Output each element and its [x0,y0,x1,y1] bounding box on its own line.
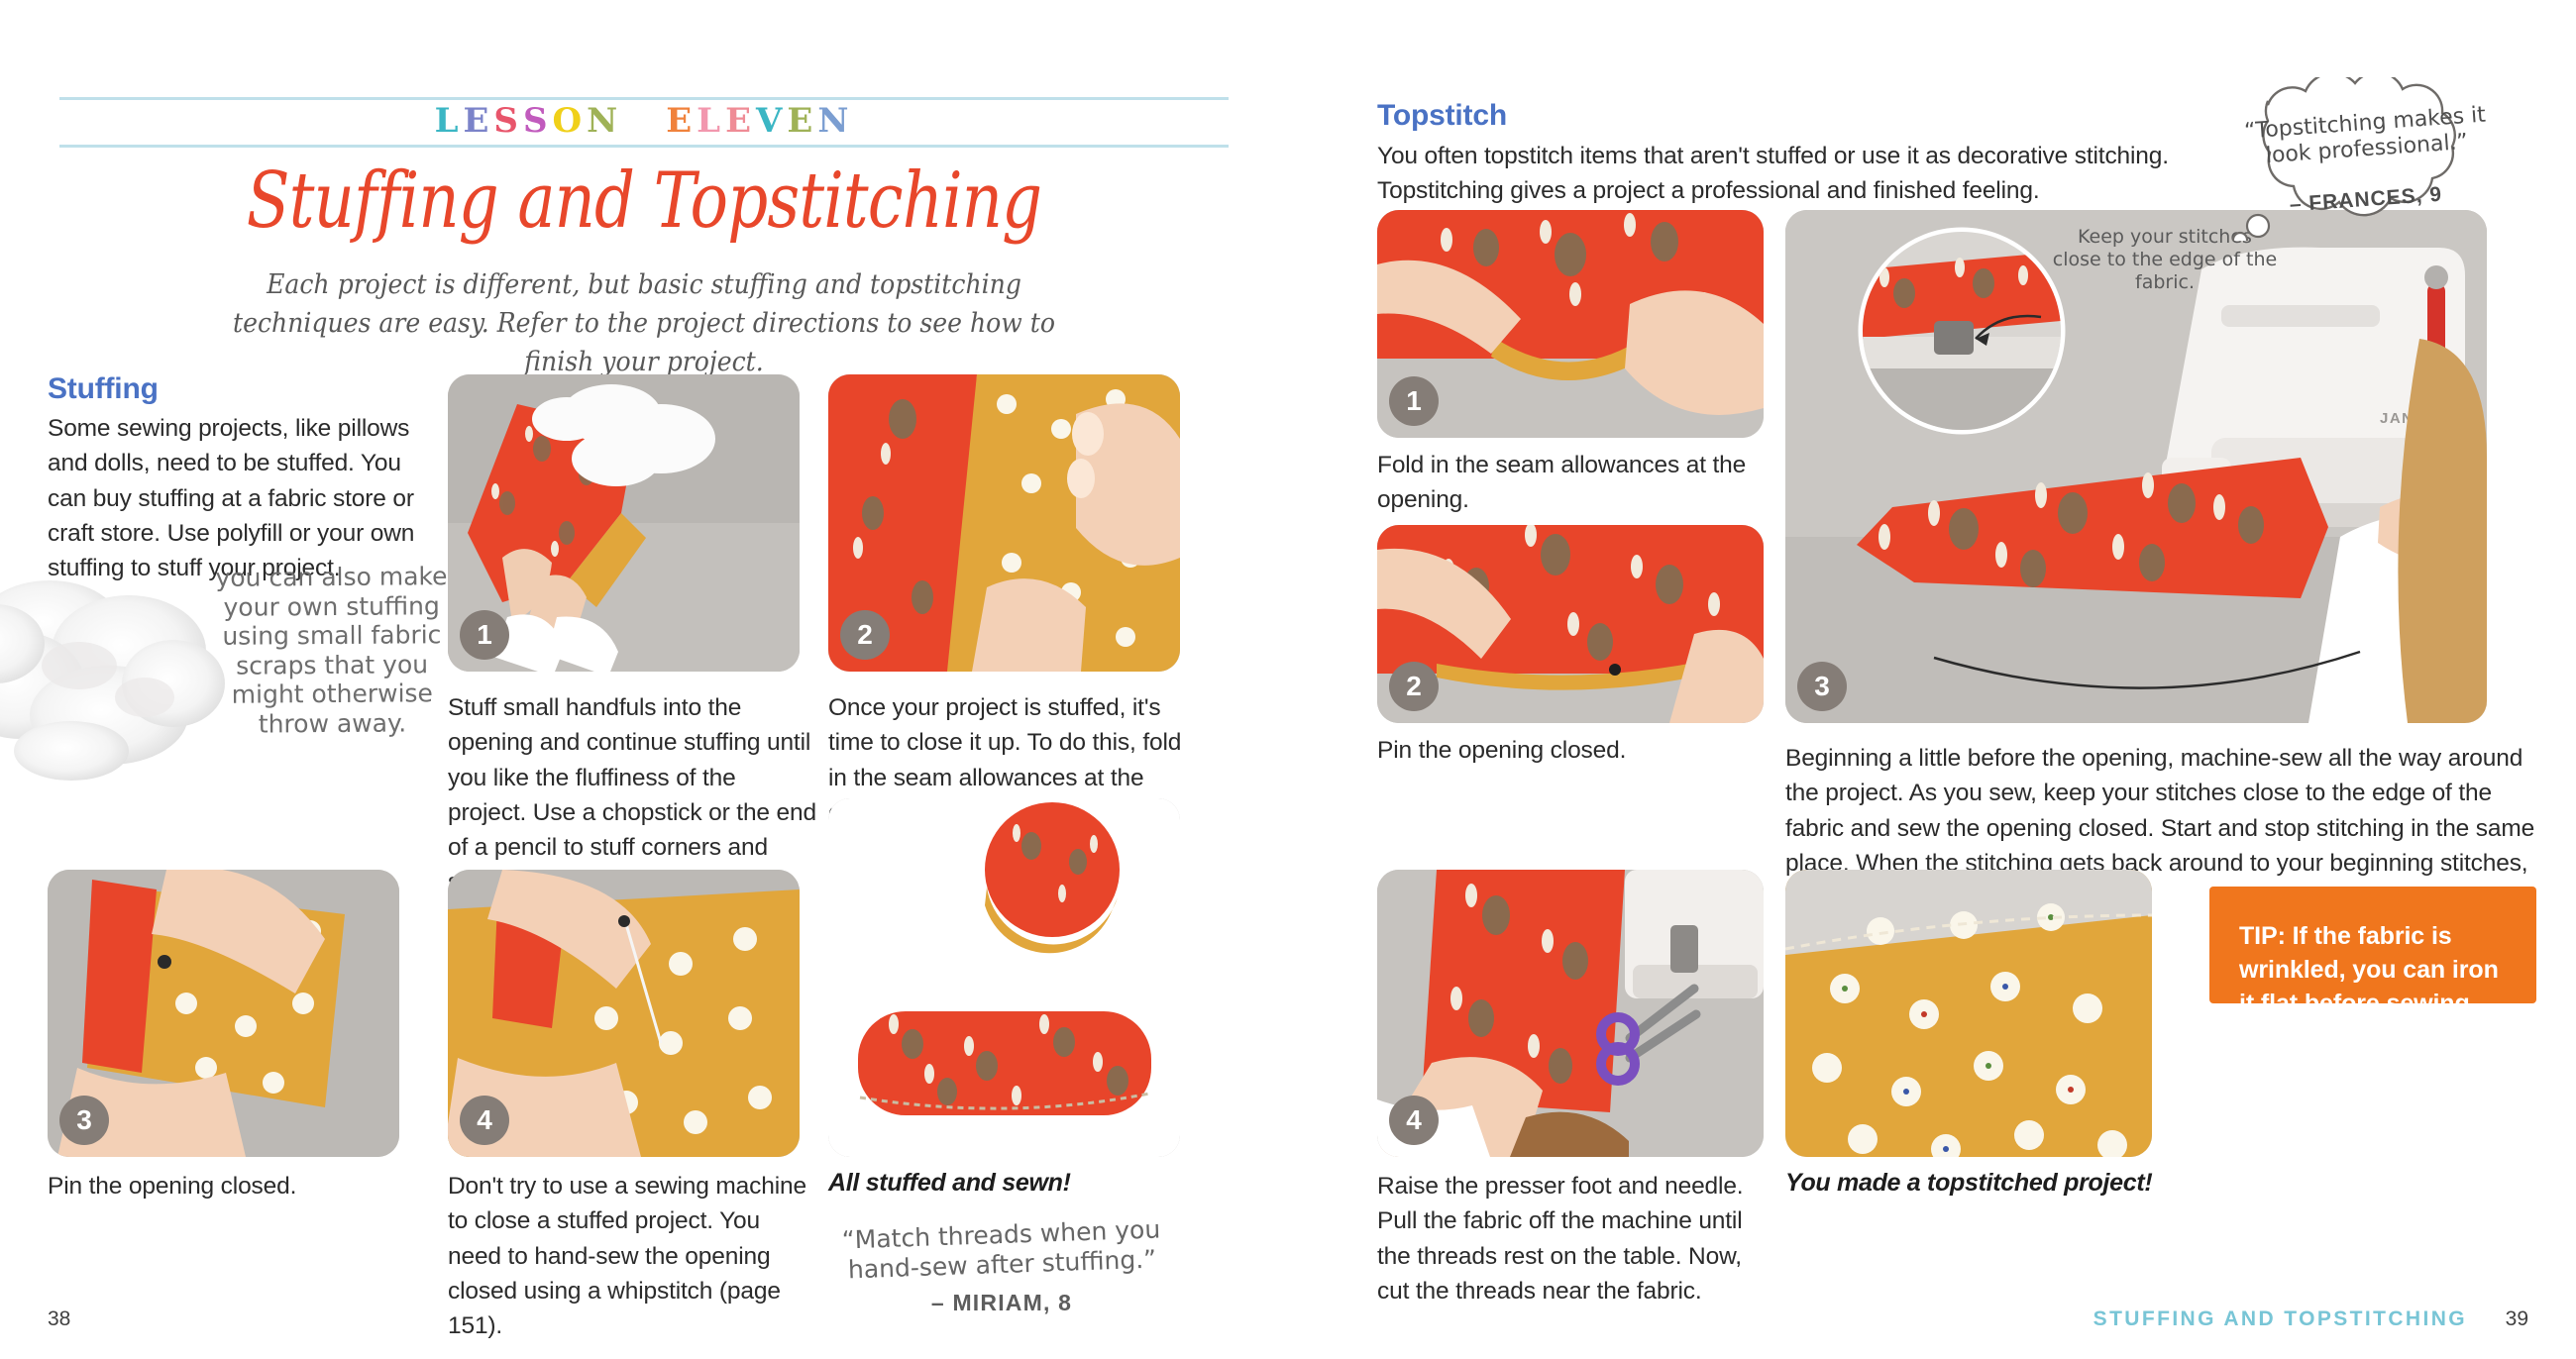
stuffing-intro-text: Some sewing projects, like pillows and d… [48,411,444,585]
running-head: STUFFING AND TOPSTITCHING [2093,1307,2467,1331]
topstitch-intro-text: You often topstitch items that aren't st… [1377,139,2170,209]
speech-bubble-frances: “Topstitching makes it look professional… [2214,77,2512,241]
photo-finished-project-art [828,798,1180,1157]
step-badge-1: 1 [460,610,509,660]
photo-finished-project-right-art [1785,870,2152,1157]
photo-step-3-left[interactable]: 3 [48,870,399,1157]
quote-miriam: “Match threads when you hand-sew after s… [827,1214,1176,1286]
photo-step-1-left[interactable]: 1 [448,374,800,672]
step-badge-3: 3 [59,1096,109,1145]
folio-right: 39 [2506,1307,2528,1331]
lesson-label: LESSON ELEVEN [0,98,1288,144]
caption-step-2-right: Pin the opening closed. [1377,733,1754,768]
step-badge-4: 4 [460,1096,509,1145]
photo-step-1-right[interactable]: 1 [1377,210,1764,438]
step-badge-2: 2 [840,610,890,660]
caption-step-4-right: Raise the presser foot and needle. Pull … [1377,1169,1754,1308]
lesson-letter: N [817,98,853,144]
right-page: Topstitch You often topstitch items that… [1288,0,2576,1359]
lesson-letter: V [756,98,787,144]
page-subtitle: Each project is different, but basic stu… [220,265,1068,381]
photo-finished-project-right[interactable] [1785,870,2152,1157]
lesson-letter: E [666,98,697,144]
caption-finished-left: All stuffed and sewn! [828,1169,1205,1198]
lesson-letter: O [553,98,588,144]
photo-step-2-left[interactable]: 2 [828,374,1180,672]
lesson-letter: N [587,98,622,144]
lesson-letter: E [787,98,817,144]
section-heading-stuffing: Stuffing [48,372,159,406]
caption-step-1-left: Stuff small handfuls into the opening an… [448,690,819,900]
photo-step-4-left[interactable]: 4 [448,870,800,1157]
step-badge-3-right: 3 [1797,662,1847,711]
photo-step-3-right[interactable]: JANOME [1785,210,2487,723]
page-title: Stuffing and Topstitching [116,157,1172,246]
caption-step-1-right: Fold in the seam allowances at the openi… [1377,448,1754,518]
step-badge-1-right: 1 [1389,376,1439,426]
lesson-letter: S [493,98,523,144]
photo-step-2-right[interactable]: 2 [1377,525,1764,723]
step-badge-2-right: 2 [1389,662,1439,711]
handwritten-note-stuffing: you can also make your own stuffing usin… [212,562,451,739]
book-spread: LESSON ELEVEN Stuffing and Topstitching … [0,0,2576,1359]
section-heading-topstitch: Topstitch [1377,99,1507,133]
header-rule-bottom [59,145,1229,148]
caption-step-4-left: Don't try to use a sewing machine to clo… [448,1169,819,1343]
left-page: LESSON ELEVEN Stuffing and Topstitching … [0,0,1288,1359]
lesson-letter [622,98,666,144]
lesson-letter: S [523,98,553,144]
lesson-letter: E [464,98,494,144]
caption-step-3-left: Pin the opening closed. [48,1169,419,1203]
lesson-letter: L [697,98,725,144]
step-badge-4-right: 4 [1389,1096,1439,1145]
tip-box: TIP: If the fabric is wrinkled, you can … [2209,887,2536,1003]
caption-finished-right: You made a topstitched project! [1785,1169,2241,1198]
folio-left: 38 [48,1307,70,1331]
lesson-letter: L [435,98,464,144]
lesson-letter: E [725,98,756,144]
photo-finished-project-left[interactable] [828,798,1180,1157]
photo-step-4-right[interactable]: 4 [1377,870,1764,1157]
quote-miriam-attrib: – MIRIAM, 8 [828,1290,1175,1316]
